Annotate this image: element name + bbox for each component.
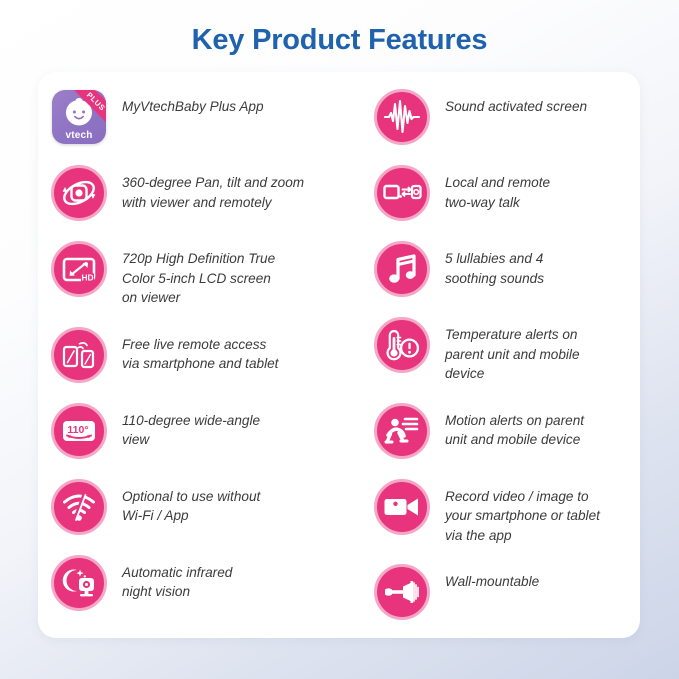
feature-label: Sound activated screen <box>445 88 587 117</box>
video-camera-icon <box>374 479 430 535</box>
feature-label: Motion alerts on parent unit and mobile … <box>445 402 584 450</box>
icon-container <box>373 88 431 146</box>
feature-item[interactable]: Record video / image to your smartphone … <box>373 478 643 546</box>
feature-item[interactable]: 110° 110-degree wide-angle view <box>50 402 360 460</box>
feature-item[interactable]: Sound activated screen <box>373 88 643 146</box>
vtech-brand-label: vtech <box>52 130 106 141</box>
icon-container <box>50 164 108 222</box>
icon-container <box>373 164 431 222</box>
feature-label: Temperature alerts on parent unit and mo… <box>445 316 580 384</box>
feature-label: Free live remote access via smartphone a… <box>122 326 278 374</box>
wide-angle-value: 110° <box>67 424 88 436</box>
feature-item[interactable]: Automatic infrared night vision <box>50 554 360 612</box>
music-note-icon <box>374 241 430 297</box>
feature-item[interactable]: PLUS vtech MyVtechBaby Plus App <box>50 88 360 146</box>
feature-item[interactable]: Local and remote two-way talk <box>373 164 643 222</box>
sound-wave-icon <box>374 89 430 145</box>
feature-label: MyVtechBaby Plus App <box>122 88 264 117</box>
thermometer-alert-icon <box>374 317 430 373</box>
wall-mount-icon <box>374 564 430 620</box>
icon-container: HD <box>50 240 108 298</box>
vtech-baby-app-icon: PLUS vtech <box>52 90 106 144</box>
icon-container <box>373 240 431 298</box>
page-title: Key Product Features <box>0 24 679 57</box>
features-column-right: Sound activated screen Local and remote … <box>373 88 643 639</box>
icon-container <box>373 316 431 374</box>
feature-item[interactable]: Wall-mountable <box>373 563 643 621</box>
feature-item[interactable]: 5 lullabies and 4 soothing sounds <box>373 240 643 298</box>
feature-label: Record video / image to your smartphone … <box>445 478 600 546</box>
wifi-off-icon <box>51 479 107 535</box>
feature-label: 360-degree Pan, tilt and zoom with viewe… <box>122 164 304 212</box>
icon-container <box>50 554 108 612</box>
feature-item[interactable]: Free live remote access via smartphone a… <box>50 326 360 384</box>
pan-tilt-zoom-icon <box>51 165 107 221</box>
feature-item[interactable]: 360-degree Pan, tilt and zoom with viewe… <box>50 164 360 222</box>
icon-container: 110° <box>50 402 108 460</box>
wide-angle-110-icon: 110° <box>51 403 107 459</box>
svg-text:HD: HD <box>81 272 93 282</box>
smartphone-tablet-icon <box>51 327 107 383</box>
feature-label: Local and remote two-way talk <box>445 164 550 212</box>
night-vision-icon <box>51 555 107 611</box>
icon-container <box>373 402 431 460</box>
two-way-talk-icon <box>374 165 430 221</box>
icon-container: PLUS vtech <box>50 88 108 146</box>
icon-container <box>50 478 108 536</box>
feature-item[interactable]: Temperature alerts on parent unit and mo… <box>373 316 643 384</box>
hd-screen-icon: HD <box>51 241 107 297</box>
icon-container <box>373 563 431 621</box>
feature-label: Wall-mountable <box>445 563 539 592</box>
feature-label: 110-degree wide-angle view <box>122 402 260 450</box>
feature-label: 720p High Definition True Color 5-inch L… <box>122 240 275 308</box>
motion-alert-icon <box>374 403 430 459</box>
features-columns: PLUS vtech MyVtechBaby Plus App <box>0 0 679 679</box>
feature-label: 5 lullabies and 4 soothing sounds <box>445 240 544 288</box>
feature-item[interactable]: Motion alerts on parent unit and mobile … <box>373 402 643 460</box>
feature-label: Optional to use without Wi-Fi / App <box>122 478 260 526</box>
icon-container <box>50 326 108 384</box>
feature-label: Automatic infrared night vision <box>122 554 232 602</box>
feature-item[interactable]: Optional to use without Wi-Fi / App <box>50 478 360 536</box>
icon-container <box>373 478 431 536</box>
feature-item[interactable]: HD 720p High Definition True Color 5-inc… <box>50 240 360 308</box>
features-column-left: PLUS vtech MyVtechBaby Plus App <box>50 88 360 630</box>
